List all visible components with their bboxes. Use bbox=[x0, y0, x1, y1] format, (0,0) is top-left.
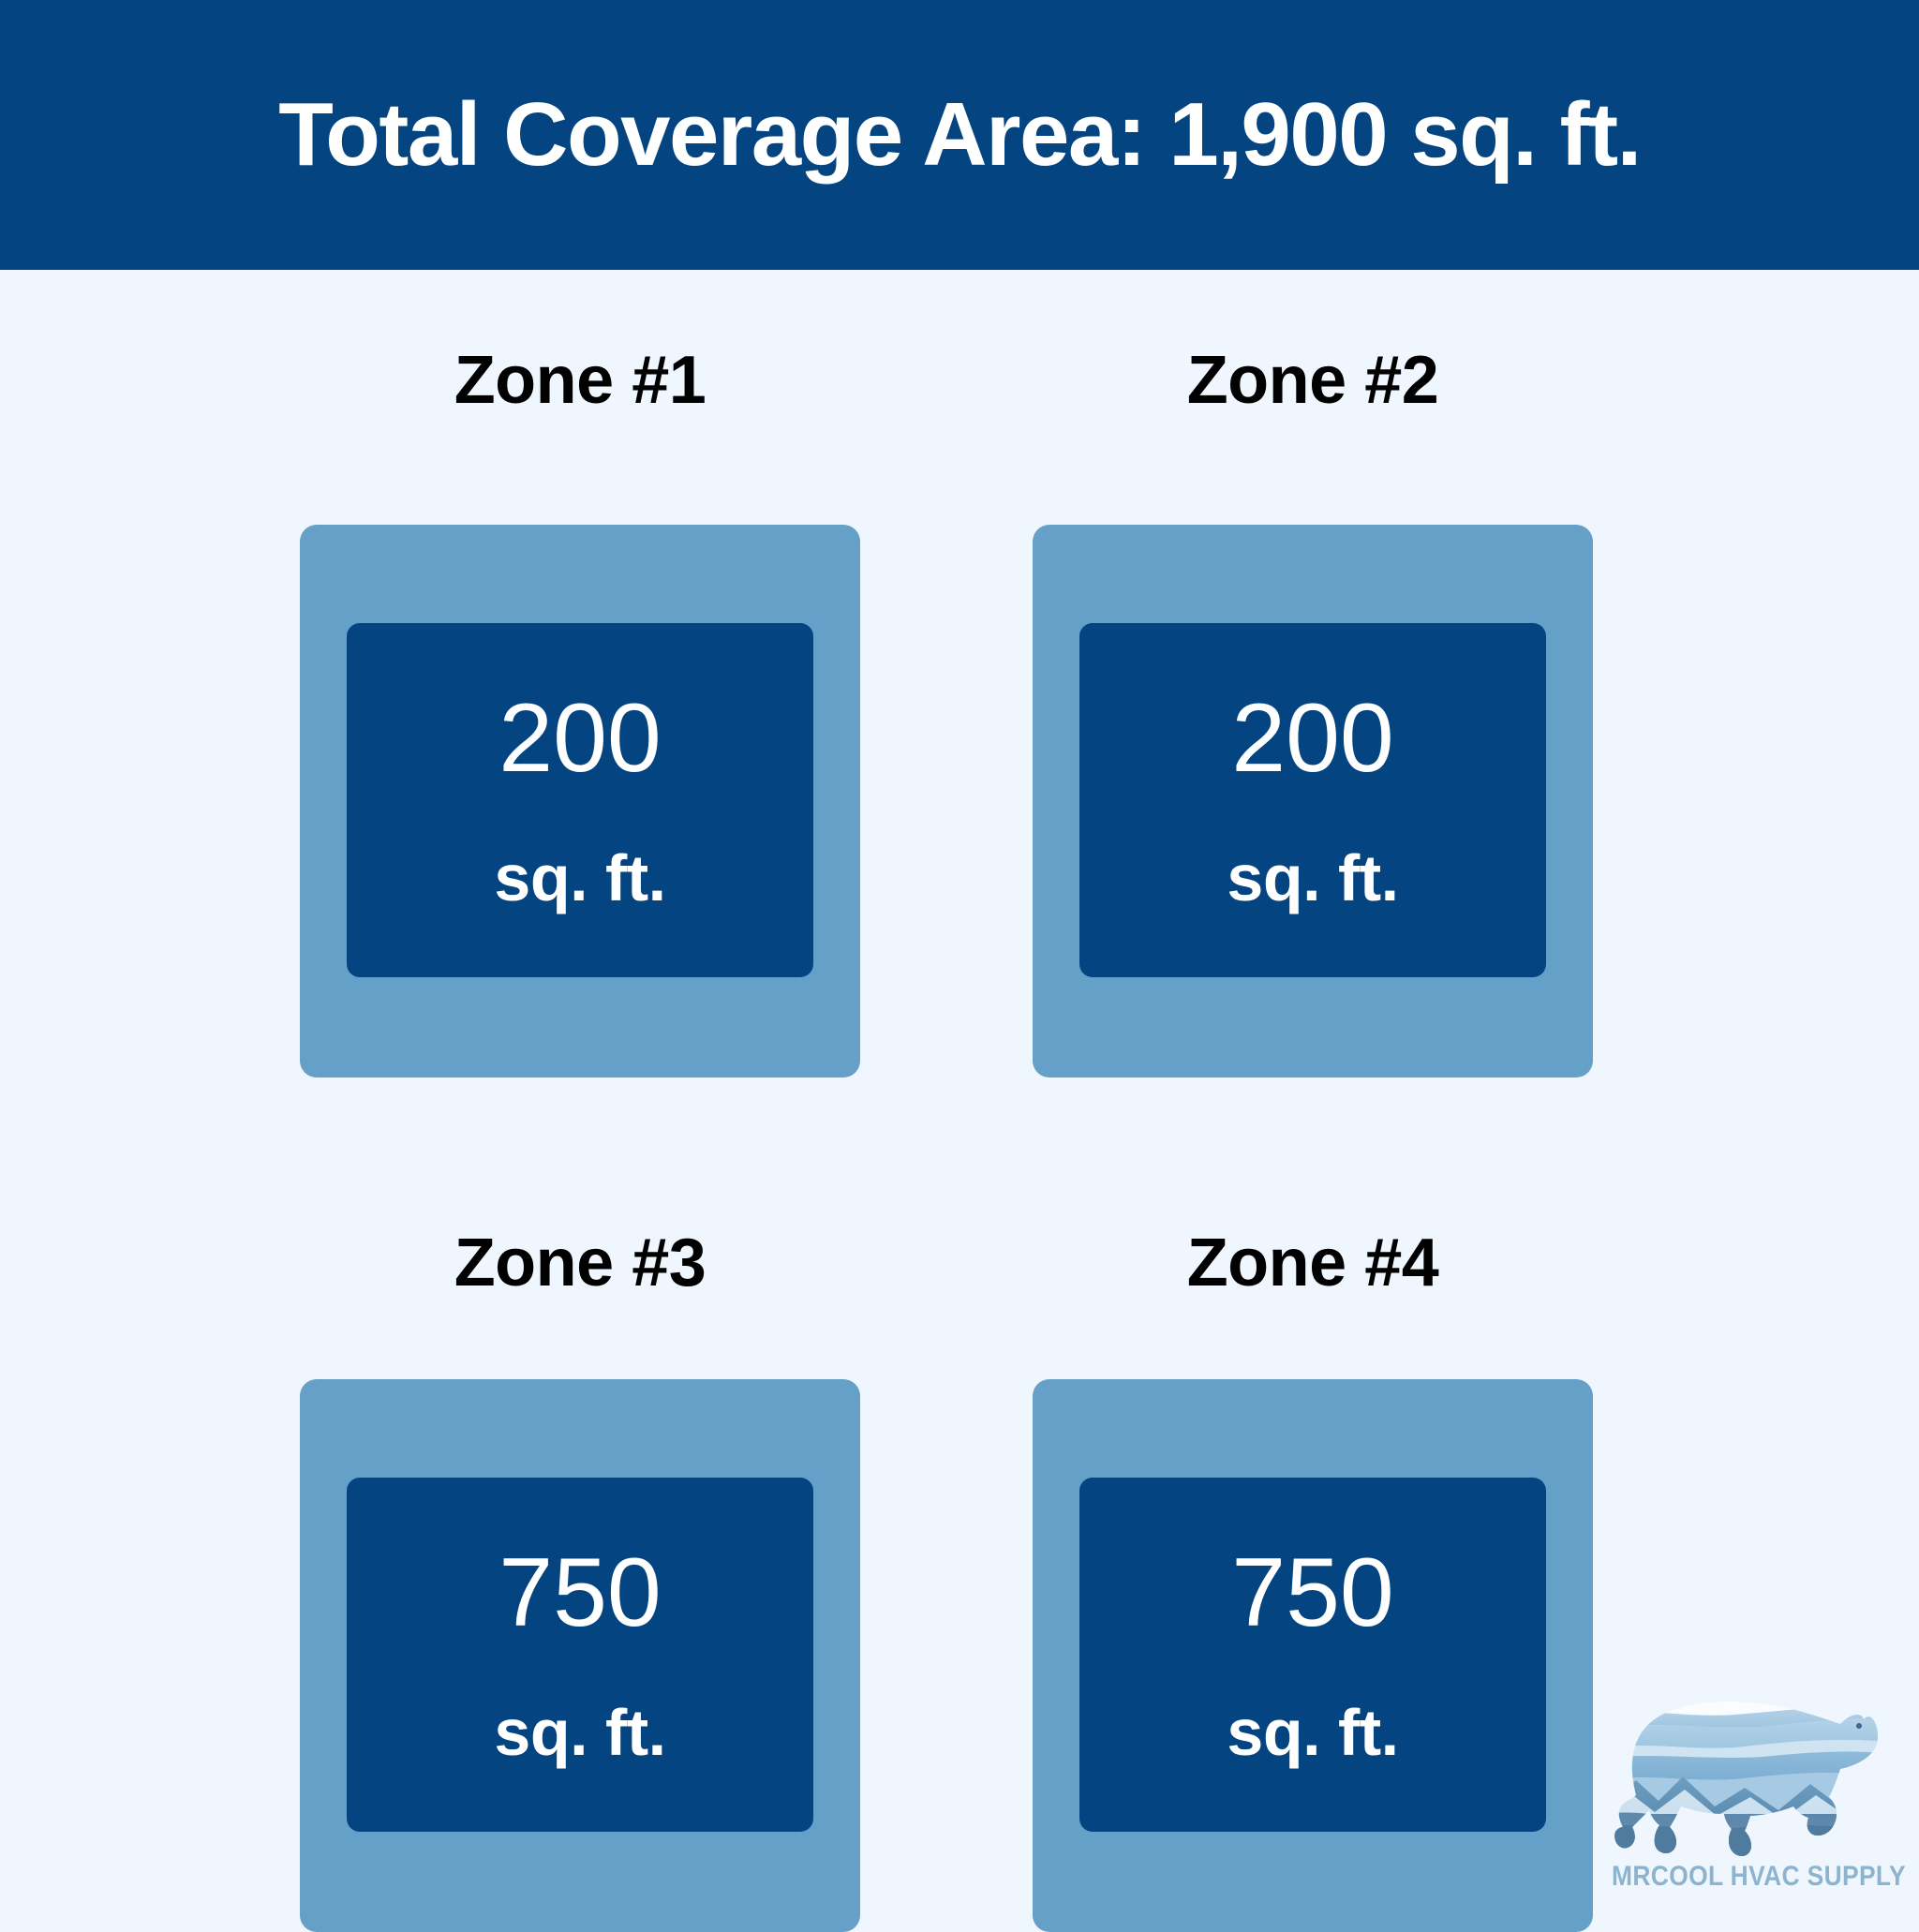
zone-cell-2[interactable]: Zone #2 200 sq. ft. bbox=[1033, 347, 1593, 1077]
zone-cell-4[interactable]: Zone #4 750 sq. ft. bbox=[1033, 1229, 1593, 1932]
zone-label-4: Zone #4 bbox=[1187, 1229, 1439, 1297]
zone-card-3[interactable]: 750 sq. ft. bbox=[300, 1379, 860, 1932]
zone-value-box-3: 750 sq. ft. bbox=[347, 1478, 813, 1832]
page-title: Total Coverage Area: 1,900 sq. ft. bbox=[278, 90, 1641, 180]
polar-bear-icon bbox=[1604, 1690, 1895, 1859]
zone-value-box-2: 200 sq. ft. bbox=[1079, 623, 1546, 977]
zone-grid: Zone #1 200 sq. ft. Zone #2 200 sq. ft. bbox=[300, 347, 1593, 1932]
zone-unit-1: sq. ft. bbox=[494, 845, 665, 911]
brand-logo: MRCOOL HVAC SUPPLY bbox=[1593, 1690, 1906, 1913]
zone-value-2: 200 bbox=[1231, 690, 1394, 787]
zone-card-2[interactable]: 200 sq. ft. bbox=[1033, 525, 1593, 1077]
row-spacer bbox=[300, 1077, 1593, 1229]
zone-card-4[interactable]: 750 sq. ft. bbox=[1033, 1379, 1593, 1932]
zone-value-1: 200 bbox=[498, 690, 662, 787]
zone-cell-1[interactable]: Zone #1 200 sq. ft. bbox=[300, 347, 860, 1077]
zone-value-4: 750 bbox=[1231, 1544, 1394, 1642]
zone-label-2: Zone #2 bbox=[1187, 347, 1439, 414]
zone-unit-2: sq. ft. bbox=[1227, 845, 1398, 911]
zone-value-box-4: 750 sq. ft. bbox=[1079, 1478, 1546, 1832]
zone-label-1: Zone #1 bbox=[454, 347, 707, 414]
zone-label-3: Zone #3 bbox=[454, 1229, 707, 1297]
zone-value-3: 750 bbox=[498, 1544, 662, 1642]
zone-cell-3[interactable]: Zone #3 750 sq. ft. bbox=[300, 1229, 860, 1932]
brand-name: MRCOOL HVAC SUPPLY bbox=[1612, 1863, 1887, 1891]
zone-unit-3: sq. ft. bbox=[494, 1700, 665, 1765]
zone-unit-4: sq. ft. bbox=[1227, 1700, 1398, 1765]
zone-card-1[interactable]: 200 sq. ft. bbox=[300, 525, 860, 1077]
header-banner: Total Coverage Area: 1,900 sq. ft. bbox=[0, 0, 1919, 270]
zone-row: Zone #3 750 sq. ft. Zone #4 750 sq. ft. bbox=[300, 1229, 1593, 1932]
zone-row: Zone #1 200 sq. ft. Zone #2 200 sq. ft. bbox=[300, 347, 1593, 1077]
zone-value-box-1: 200 sq. ft. bbox=[347, 623, 813, 977]
